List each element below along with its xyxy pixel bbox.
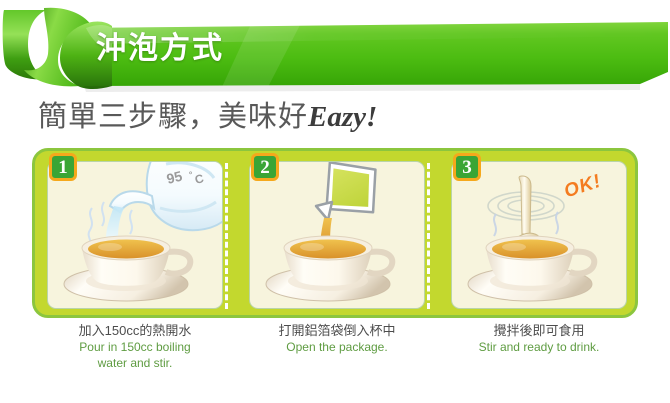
step-badge-3: 3 <box>453 153 481 181</box>
cup-handle <box>368 252 392 274</box>
kettle-pouring-into-teacup-icon: 95 ° C <box>48 162 222 308</box>
banner-title: 沖泡方式 <box>96 34 224 64</box>
page-subtitle: 簡單三步驟，美味好Eazy! <box>38 100 377 135</box>
step-panel-2 <box>249 161 425 309</box>
step-caption-1: 加入150cc的熱開水 Pour in 150cc boiling water … <box>34 322 236 371</box>
cup-handle <box>570 252 594 274</box>
tea-surface <box>492 240 568 259</box>
caption-2-chinese: 打開鋁箔袋倒入杯中 <box>236 322 438 339</box>
caption-1-english-line2: water and stir. <box>34 356 236 371</box>
step-panel-3: OK! <box>451 161 627 309</box>
sachet-torn-corner <box>316 202 332 220</box>
subtitle-eazy: Eazy! <box>308 101 377 133</box>
sachet-shape <box>316 162 383 220</box>
cup-handle <box>166 252 190 274</box>
step-separator-2 <box>427 163 430 309</box>
ribbon-banner: 沖泡方式 <box>0 0 670 96</box>
water-stream <box>106 206 124 238</box>
foil-sachet-pouring-into-teacup-icon <box>250 162 424 308</box>
caption-2-english-line1: Open the package. <box>236 340 438 355</box>
step-caption-2: 打開鋁箔袋倒入杯中 Open the package. <box>236 322 438 355</box>
step-badge-1: 1 <box>49 153 77 181</box>
step-panel-1: 95 ° C <box>47 161 223 309</box>
caption-3-english-line1: Stir and ready to drink. <box>438 340 640 355</box>
steps-container: 95 ° C <box>32 148 638 318</box>
subtitle-chinese: 簡單三步驟，美味好 <box>38 101 308 133</box>
caption-3-chinese: 攪拌後即可食用 <box>438 322 640 339</box>
tea-surface <box>88 240 164 259</box>
step-caption-3: 攪拌後即可食用 Stir and ready to drink. <box>438 322 640 355</box>
tea-surface <box>290 240 366 259</box>
step-badge-2: 2 <box>251 153 279 181</box>
caption-1-chinese: 加入150cc的熱開水 <box>34 322 236 339</box>
step-separator-1 <box>225 163 228 309</box>
spoon-handle <box>519 176 531 234</box>
caption-1-english-line1: Pour in 150cc boiling <box>34 340 236 355</box>
